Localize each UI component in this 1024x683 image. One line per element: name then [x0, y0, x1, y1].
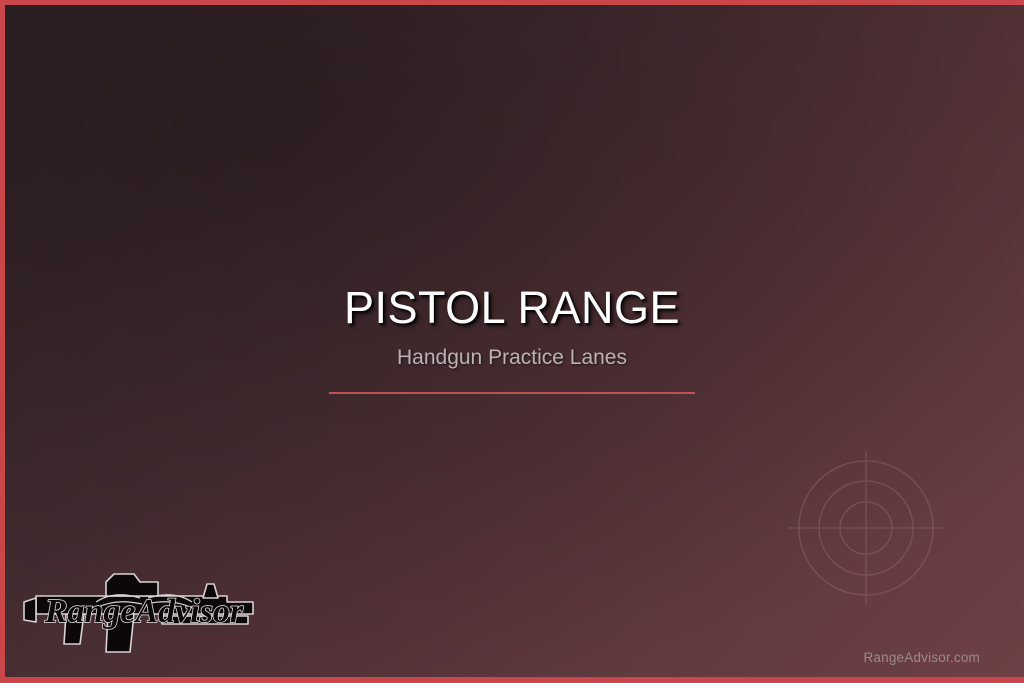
slide-border-top: [0, 0, 1024, 5]
brand-logo: RangeAdvisor: [22, 556, 266, 656]
slide-border-bottom: [0, 677, 1024, 683]
slide-subtitle: Handgun Practice Lanes: [0, 345, 1024, 370]
title-block: PISTOL RANGE Handgun Practice Lanes: [0, 284, 1024, 394]
crosshair-target-icon: [786, 448, 946, 608]
presentation-slide: PISTOL RANGE Handgun Practice Lanes: [0, 0, 1024, 683]
footer-url: RangeAdvisor.com: [863, 650, 980, 665]
brand-wordmark: RangeAdvisor: [44, 593, 244, 630]
slide-title: PISTOL RANGE: [0, 284, 1024, 331]
title-divider: [329, 392, 695, 394]
